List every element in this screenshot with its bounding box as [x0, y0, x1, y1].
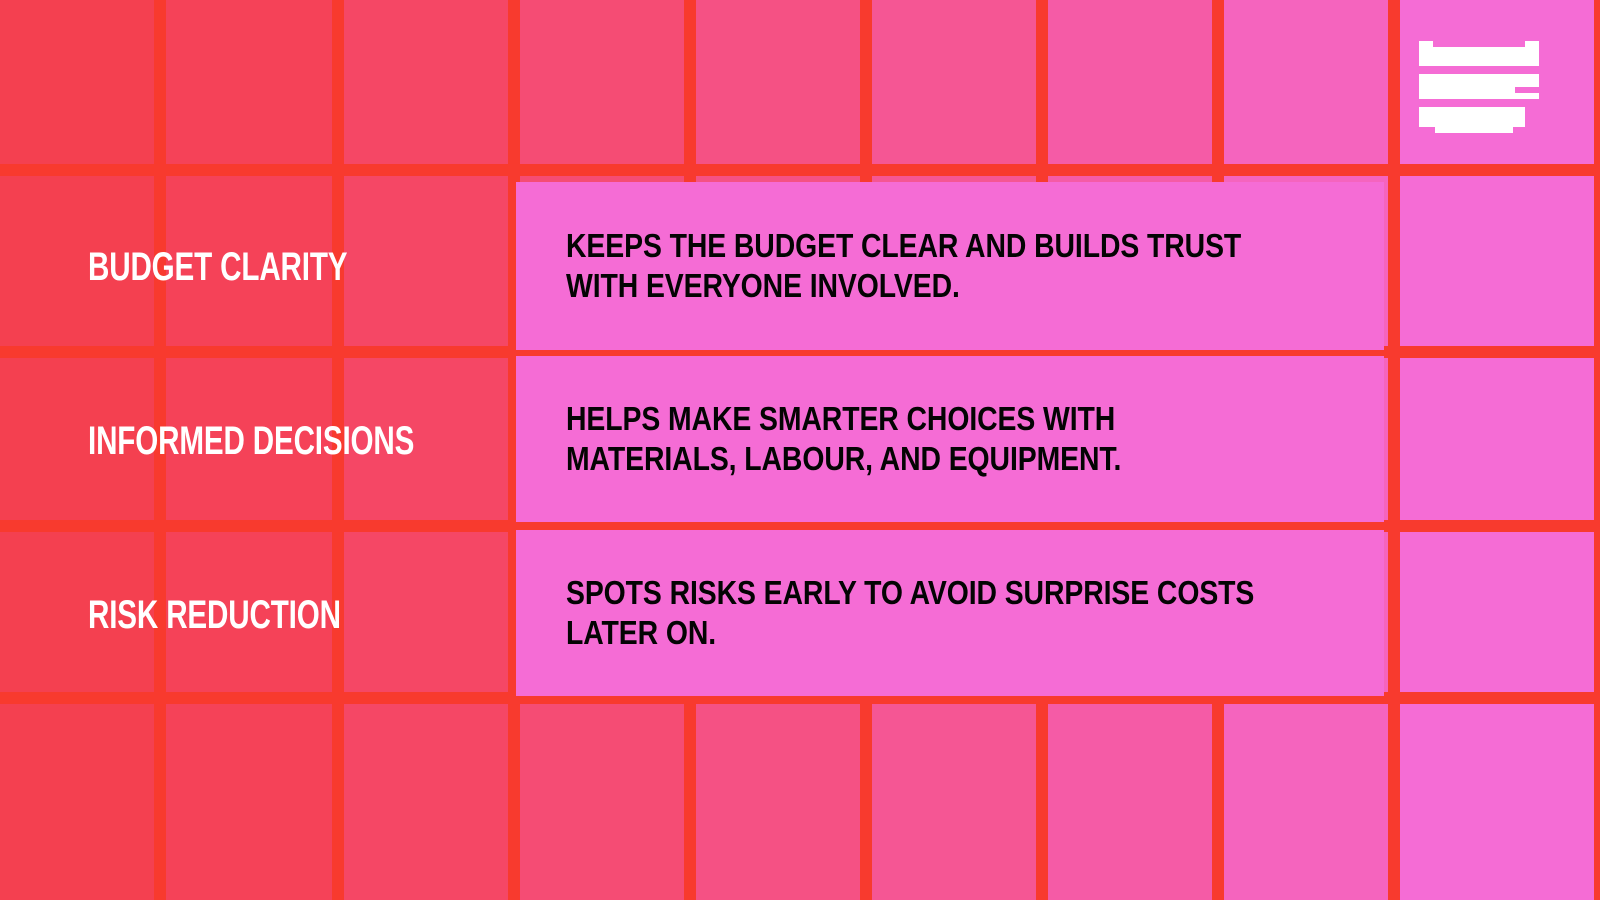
info-card-text-budget-clarity: KEEPS THE BUDGET CLEAR AND BUILDS TRUST …: [566, 226, 1269, 307]
info-card-text-risk-reduction: SPOTS RISKS EARLY TO AVOID SURPRISE COST…: [566, 573, 1269, 654]
row-label-budget-clarity: BUDGET CLARITY: [88, 247, 347, 287]
row-label-risk-reduction: RISK REDUCTION: [88, 595, 341, 635]
row-label-informed-decisions: INFORMED DECISIONS: [88, 421, 414, 461]
info-card-informed-decisions[interactable]: HELPS MAKE SMARTER CHOICES WITH MATERIAL…: [516, 356, 1384, 522]
info-card-budget-clarity[interactable]: KEEPS THE BUDGET CLEAR AND BUILDS TRUST …: [516, 182, 1384, 350]
three-bar-logo-icon[interactable]: [1419, 41, 1539, 133]
slide-canvas: BUDGET CLARITY KEEPS THE BUDGET CLEAR AN…: [0, 0, 1600, 900]
info-card-risk-reduction[interactable]: SPOTS RISKS EARLY TO AVOID SURPRISE COST…: [516, 530, 1384, 696]
info-card-text-informed-decisions: HELPS MAKE SMARTER CHOICES WITH MATERIAL…: [566, 399, 1269, 480]
content-layer: BUDGET CLARITY KEEPS THE BUDGET CLEAR AN…: [0, 0, 1600, 900]
